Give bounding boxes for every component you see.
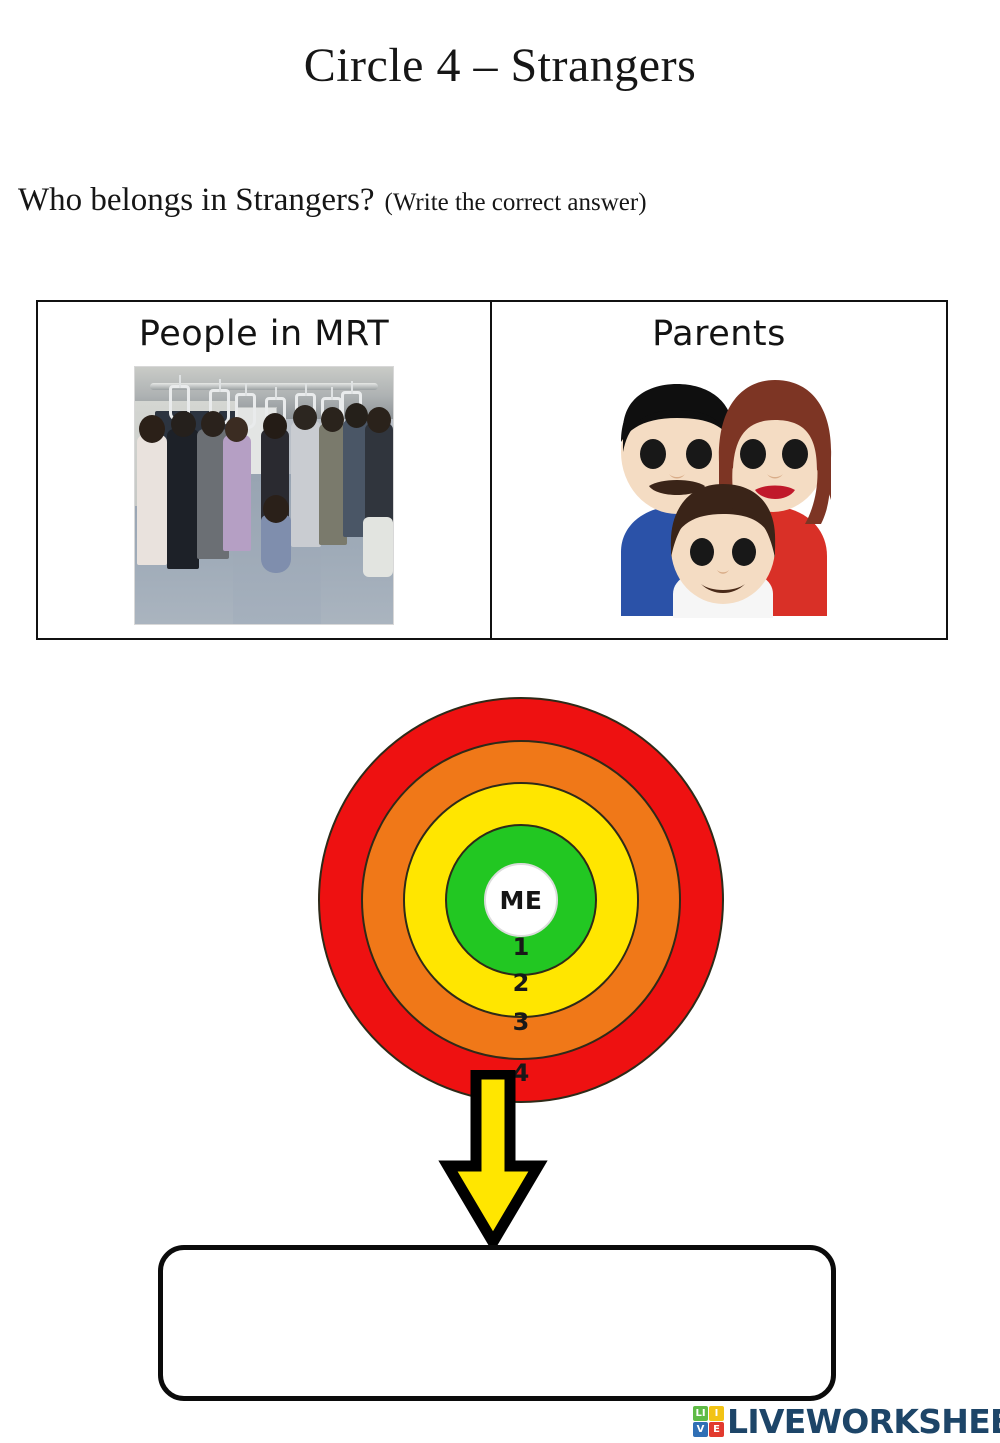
option-cell-parents[interactable]: Parents (492, 302, 946, 638)
child-eye-right (732, 538, 756, 566)
ring-number-3: 3 (506, 1008, 536, 1036)
child-eye-left (690, 538, 714, 566)
down-arrow-container (438, 1070, 548, 1250)
logo-tile-e: E (709, 1422, 724, 1437)
passenger-4 (223, 435, 251, 551)
relationship-circles-diagram: ME 1 2 3 4 (318, 697, 724, 1103)
child-center-head (263, 495, 289, 523)
question-text: Who belongs in Strangers? (18, 182, 375, 219)
passenger-7-head (321, 407, 344, 432)
option-image-people-in-mrt (134, 366, 394, 625)
mrt-train-crowd-photo (134, 366, 394, 625)
passenger-2-head (171, 411, 196, 437)
down-arrow-shape (448, 1074, 538, 1242)
logo-tile-i: I (709, 1406, 724, 1421)
father-eye-left (640, 439, 666, 469)
ring-number-1: 1 (506, 933, 536, 961)
option-label-parents: Parents (652, 314, 786, 354)
liveworksheets-wordmark: LIVEWORKSHEETS (727, 1402, 1000, 1441)
passenger-2 (167, 429, 199, 569)
option-cell-people-in-mrt[interactable]: People in MRT (38, 302, 492, 638)
down-arrow-icon (438, 1070, 548, 1250)
father-eye-right (686, 439, 712, 469)
logo-tile-v: V (693, 1422, 708, 1437)
option-label-people-in-mrt: People in MRT (139, 314, 389, 354)
passenger-1 (137, 435, 167, 565)
passenger-6 (291, 421, 321, 547)
family-emoji (577, 366, 862, 624)
question-line: Who belongs in Strangers? (Write the cor… (18, 182, 647, 219)
logo-tile-li: LI (693, 1406, 708, 1421)
passenger-3-head (201, 411, 225, 437)
passenger-10 (363, 517, 393, 577)
liveworksheets-logo-tiles: LI I V E (693, 1406, 724, 1437)
family-emoji-svg (577, 366, 862, 624)
passenger-5-head (263, 413, 287, 439)
passenger-1-head (139, 415, 165, 443)
options-table: People in MRT (36, 300, 948, 640)
passenger-9-head (367, 407, 391, 433)
question-hint: (Write the correct answer) (385, 189, 647, 217)
mother-eye-right (782, 439, 808, 469)
liveworksheets-logo: LI I V E LIVEWORKSHEETS (693, 1402, 1000, 1441)
passenger-4-head (225, 417, 248, 442)
answer-input-box[interactable] (158, 1245, 836, 1401)
ring-number-2: 2 (506, 969, 536, 997)
option-image-parents (577, 366, 862, 624)
page-title: Circle 4 – Strangers (0, 36, 1000, 96)
passenger-8-head (345, 403, 368, 428)
mother-eye-left (740, 439, 766, 469)
passenger-6-head (293, 405, 317, 430)
child-center (261, 515, 291, 573)
circle-center-me: ME (484, 863, 558, 937)
me-label: ME (500, 886, 543, 915)
